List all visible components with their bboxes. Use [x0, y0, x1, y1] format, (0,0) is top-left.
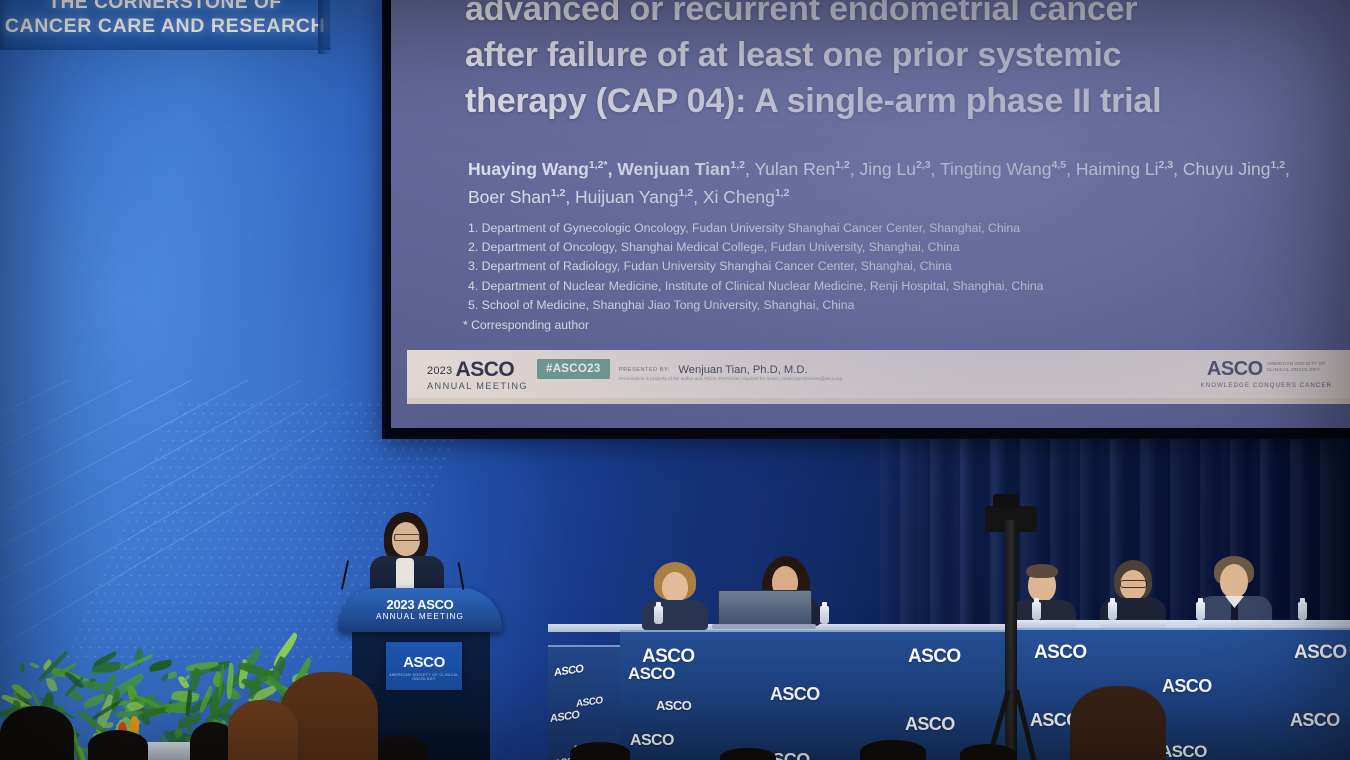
asco-logo-tile: ASCO: [1290, 710, 1340, 731]
plant-leaf: [46, 677, 58, 693]
water-bottle-4: [1108, 602, 1117, 620]
asco-society-tagline: KNOWLEDGE CONQUERS CANCER: [1201, 382, 1332, 389]
asco-logo-tile: ASCO: [630, 732, 674, 750]
audience-head-5: [860, 740, 926, 760]
panelist-5-head: [1220, 564, 1248, 598]
asco-logo-tile: ASCO: [656, 698, 691, 713]
venue-banner-line1: THE CORNERSTONE OF: [0, 0, 330, 14]
asco-logo-tile: ASCO: [1294, 642, 1347, 664]
asco-logo-tile: ASCO: [905, 714, 955, 735]
asco-logo-tile: ASCO: [1162, 676, 1212, 697]
plant-leaf: [186, 667, 203, 692]
screen-frame-bottom: [385, 428, 1350, 438]
affiliation-3: 3. Department of Radiology, Fudan Univer…: [468, 257, 1044, 276]
conference-stage-photo: THE CORNERSTONE OF CANCER CARE AND RESEA…: [0, 0, 1350, 760]
plant-leaf: [30, 661, 40, 669]
plant-leaf: [20, 663, 25, 673]
asco-meeting-sub: ANNUAL MEETING: [427, 381, 528, 391]
venue-banner-line2: CANCER CARE AND RESEARCH: [0, 15, 330, 38]
audience-head-4: [720, 748, 776, 760]
hashtag-badge: #ASCO23: [537, 359, 610, 379]
asco-meeting-brand: ASCO: [456, 358, 515, 381]
podium-sign-text: 2023 ASCO ANNUAL MEETING: [338, 597, 502, 621]
asco-logo-tile: ASCO: [550, 709, 579, 725]
asco-society-mark: ASCO: [1207, 358, 1263, 381]
podium-plate-brand: ASCO: [386, 654, 462, 671]
audience-head-10: [0, 706, 74, 760]
panelist-figure-3: [1010, 562, 1080, 624]
screen-frame-left: [385, 0, 391, 436]
asco-meeting-year: 2023: [427, 365, 452, 377]
projection-screen: Anlotinib plus penpulimab in patients wi…: [385, 0, 1350, 436]
panelist-3-hair: [1026, 564, 1058, 578]
presenter-glasses: [394, 534, 420, 541]
panel-table-front-right: ASCOASCOASCOASCOASCOASCO: [1012, 628, 1350, 760]
slide-title-line1: advanced or recurrent endometrial cancer: [465, 0, 1290, 32]
audience-head-11: [88, 730, 148, 760]
podium-sign-line2: ANNUAL MEETING: [338, 612, 502, 621]
presented-by-label: PRESENTED BY:: [619, 367, 670, 373]
plant-leaf: [167, 671, 176, 678]
asco-logo-tile: ASCO: [1160, 742, 1207, 760]
water-bottle-5: [1196, 602, 1205, 620]
authors-line-2: Boer Shan1,2, Huijuan Yang1,2, Xi Cheng1…: [468, 181, 1310, 209]
audience-head-6: [960, 744, 1016, 760]
asco-logo-tile: ASCO: [642, 646, 695, 668]
podium-top-sign: 2023 ASCO ANNUAL MEETING: [338, 588, 502, 632]
slide-affiliations: 1. Department of Gynecologic Oncology, F…: [468, 219, 1044, 315]
podium-sign-line1: 2023 ASCO: [338, 597, 502, 612]
plant-leaf: [148, 659, 173, 672]
podium-asco-plate: ASCO AMERICAN SOCIETY OF CLINICAL ONCOLO…: [386, 642, 462, 690]
camera-tripod-column: [1005, 520, 1017, 760]
venue-banner: THE CORNERSTONE OF CANCER CARE AND RESEA…: [0, 0, 330, 50]
slide-footer-divider: [407, 398, 1350, 404]
slide-footer-bar: 2023 ASCO ANNUAL MEETING #ASCO23 PRESENT…: [407, 350, 1350, 398]
venue-banner-edge: [318, 0, 332, 54]
asco-logo-tile: ASCO: [576, 695, 603, 710]
authors-line-1: Huaying Wang1,2*, Wenjuan Tian1,2, Yulan…: [468, 153, 1310, 181]
water-bottle-2: [820, 606, 829, 624]
asco-logo-tile: ASCO: [554, 663, 583, 679]
water-bottle-6: [1298, 602, 1307, 620]
affiliation-2: 2. Department of Oncology, Shanghai Medi…: [468, 238, 1044, 257]
asco-meeting-row1: 2023 ASCO: [427, 358, 528, 382]
slide-title: Anlotinib plus penpulimab in patients wi…: [465, 0, 1290, 124]
slide-authors: Huaying Wang1,2*, Wenjuan Tian1,2, Yulan…: [468, 153, 1310, 209]
audience-head-2: [372, 736, 428, 760]
presenter-name: Wenjuan Tian, Ph.D, M.D.: [678, 364, 807, 376]
water-bottle-3: [1032, 602, 1041, 620]
panelist-1-head: [662, 572, 688, 602]
slide-title-line2: after failure of at least one prior syst…: [465, 32, 1290, 78]
panelist-laptop-base: [712, 624, 816, 629]
asco-logo-tile: ASCO: [770, 684, 820, 705]
panel-table-top-right: [1012, 620, 1350, 628]
panelist-figure-1: [640, 562, 710, 624]
affiliation-5: 5. School of Medicine, Shanghai Jiao Ton…: [468, 296, 1044, 315]
slide-title-line3: therapy (CAP 04): A single-arm phase II …: [465, 78, 1290, 124]
audience-head-9: [228, 700, 298, 760]
audience-head-7: [1070, 686, 1166, 760]
affiliation-1: 1. Department of Gynecologic Oncology, F…: [468, 219, 1044, 238]
panelist-figure-5: [1198, 556, 1276, 626]
panelist-1-torso: [642, 600, 708, 630]
asco-society-row: ASCOAMERICAN SOCIETY OFCLINICAL ONCOLOGY: [1201, 358, 1332, 381]
presentation-slide: Anlotinib plus penpulimab in patients wi…: [385, 0, 1350, 436]
slide-disclaimer: Presentation is property of the author a…: [619, 376, 842, 381]
asco-logo-tile: ASCO: [1034, 642, 1087, 664]
affiliation-4: 4. Department of Nuclear Medicine, Insti…: [468, 277, 1044, 296]
panelist-laptop: [718, 590, 812, 628]
asco-annual-meeting-logo: 2023 ASCO ANNUAL MEETING: [427, 358, 528, 391]
panelist-4-glasses: [1120, 580, 1147, 588]
asco-society-logo: ASCOAMERICAN SOCIETY OFCLINICAL ONCOLOGY…: [1201, 358, 1332, 389]
asco-society-name: AMERICAN SOCIETY OFCLINICAL ONCOLOGY: [1267, 361, 1326, 373]
audience-head-3: [570, 742, 630, 760]
water-bottle-1: [654, 606, 663, 624]
asco-logo-tile: ASCO: [908, 646, 961, 668]
plant-flower: [130, 716, 139, 732]
corresponding-author-note: * Corresponding author: [463, 318, 589, 332]
podium-plate-sub: AMERICAN SOCIETY OF CLINICAL ONCOLOGY: [386, 673, 462, 681]
